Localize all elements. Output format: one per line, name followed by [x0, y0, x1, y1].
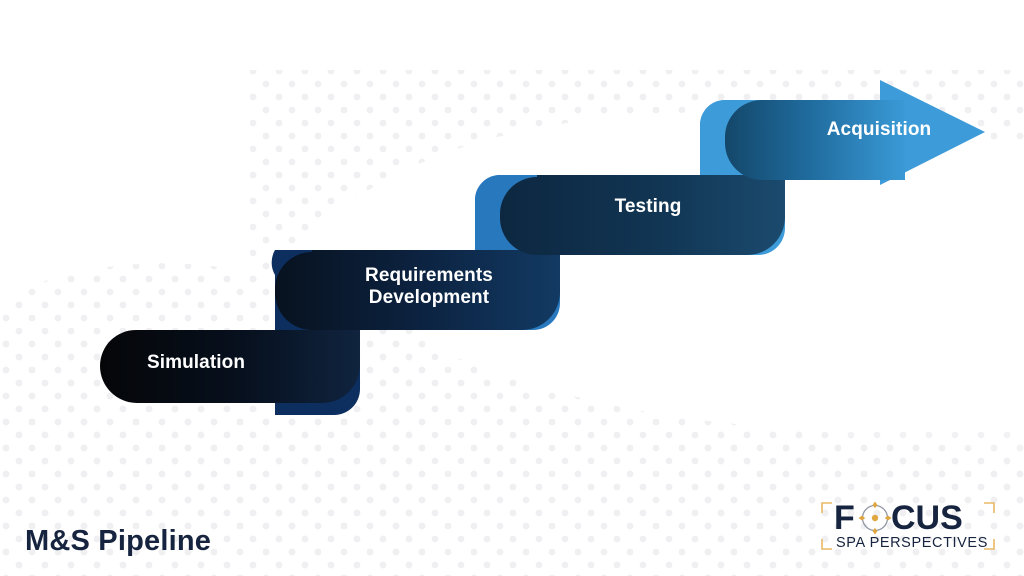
page-title: M&S Pipeline — [25, 525, 211, 558]
logo-wordmark-cus: CUS — [891, 499, 963, 537]
pipeline-step-3[interactable] — [500, 175, 785, 255]
focus-logo: F CUS SPA PERSPECTIVES — [818, 487, 998, 559]
logo-wordmark-f: F — [834, 499, 855, 537]
pipeline-step-1[interactable] — [100, 330, 360, 403]
focus-target-icon — [859, 502, 892, 535]
logo-tagline: SPA PERSPECTIVES — [836, 535, 988, 551]
slide-canvas: Simulation Requirements Development Test… — [0, 0, 1024, 576]
pipeline-step-4[interactable] — [725, 100, 905, 180]
pipeline-step-2[interactable] — [275, 250, 560, 330]
